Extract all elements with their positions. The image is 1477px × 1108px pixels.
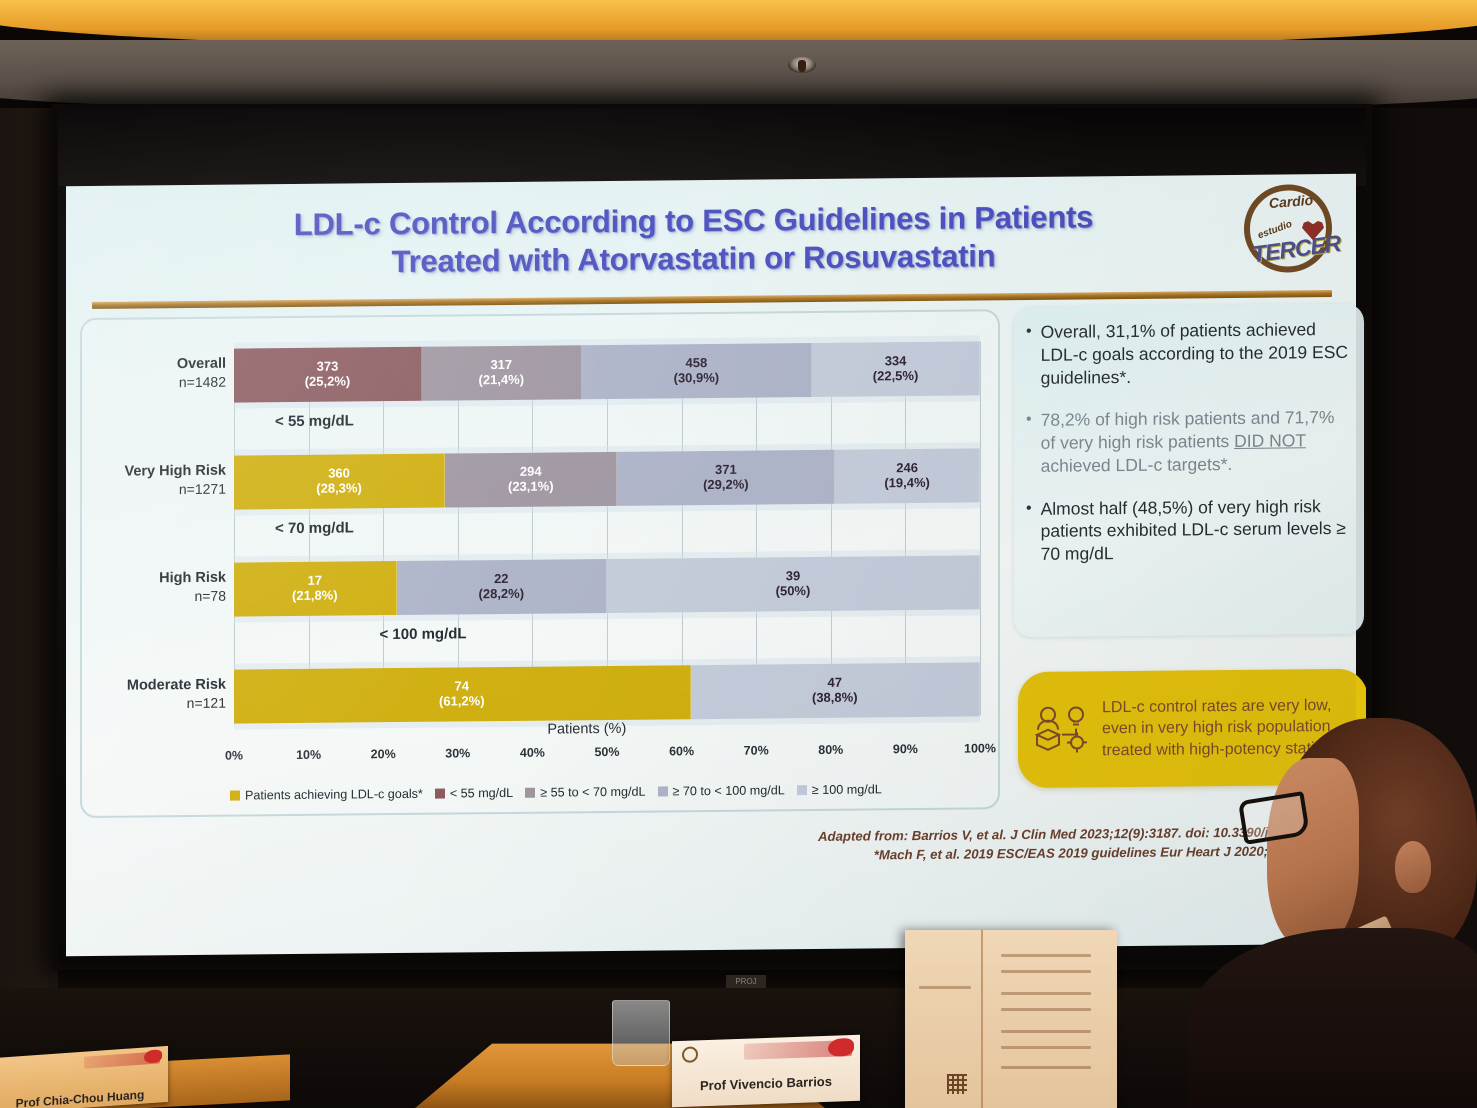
chart-bar-row[interactable]: 373(25,2%)317(21,4%)458(30,9%)334(22,5%) bbox=[234, 341, 980, 403]
segment-percent-label: (21,8%) bbox=[292, 589, 338, 604]
chart-bar-segment[interactable]: 22(28,2%) bbox=[397, 559, 607, 616]
chart-panel: 373(25,2%)317(21,4%)458(30,9%)334(22,5%)… bbox=[80, 309, 1000, 818]
chart-category-n: n=1482 bbox=[76, 374, 226, 393]
cardio-tercer-logo: Cardio estudio TERCER bbox=[1240, 180, 1336, 277]
segment-count-label: 17 bbox=[308, 574, 322, 589]
photo-of-conference-slide: LDL-c Control According to ESC Guideline… bbox=[0, 0, 1477, 1108]
segment-count-label: 360 bbox=[328, 467, 350, 482]
segment-percent-label: (61,2%) bbox=[439, 694, 485, 709]
segment-count-label: 246 bbox=[896, 461, 918, 476]
chart-bar-row[interactable]: 360(28,3%)294(23,1%)371(29,2%)246(19,4%) bbox=[234, 448, 980, 510]
chart-goal-threshold-label: < 100 mg/dL bbox=[379, 625, 466, 643]
chart-x-tick-label: 20% bbox=[371, 747, 396, 761]
chart-x-tick-label: 90% bbox=[893, 742, 918, 756]
segment-percent-label: (30,9%) bbox=[674, 371, 720, 386]
legend-label: Patients achieving LDL-c goals* bbox=[245, 787, 423, 803]
chart-bar-segment[interactable]: 294(23,1%) bbox=[445, 452, 617, 508]
bullet-emphasis: DID NOT bbox=[1234, 430, 1306, 451]
chart-x-tick-label: 80% bbox=[818, 743, 843, 757]
chart-category-label: High Risk bbox=[76, 570, 226, 589]
chart-bar-segment[interactable]: 458(30,9%) bbox=[582, 343, 813, 400]
projector-label: PROJ bbox=[726, 975, 766, 988]
namecard-left: Prof Chia-Chou Huang bbox=[0, 1046, 168, 1108]
chart-category-label: Overall bbox=[76, 356, 226, 375]
finding-bullet: •Overall, 31,1% of patients achieved LDL… bbox=[1026, 318, 1352, 389]
chart-bar-segment[interactable]: 47(38,8%) bbox=[691, 662, 980, 719]
bullet-text: Overall, 31,1% of patients achieved LDL-… bbox=[1041, 318, 1352, 389]
chart-category-group: Moderate Riskn=121 bbox=[76, 676, 226, 712]
bullet-dot-icon: • bbox=[1026, 497, 1032, 565]
page-title: LDL-c Control According to ESC Guideline… bbox=[136, 197, 1251, 283]
person-idea-gear-icon bbox=[1032, 698, 1094, 761]
bullet-text: 78,2% of high risk patients and 71,7% of… bbox=[1041, 406, 1352, 477]
chart-goal-threshold-label: < 70 mg/dL bbox=[275, 519, 354, 537]
chart-bar-segment[interactable]: 373(25,2%) bbox=[234, 347, 422, 403]
legend-label: < 55 mg/dL bbox=[450, 786, 513, 801]
audience-member-silhouette bbox=[1207, 608, 1477, 1108]
chart-x-tick-label: 50% bbox=[594, 745, 619, 759]
legend-swatch bbox=[525, 788, 535, 798]
chart-category-group: Overalln=1482 bbox=[76, 356, 226, 392]
chart-plot-area: 373(25,2%)317(21,4%)458(30,9%)334(22,5%)… bbox=[234, 341, 980, 722]
chart-x-tick-label: 60% bbox=[669, 744, 694, 758]
segment-percent-label: (23,1%) bbox=[508, 480, 554, 495]
chart-bar-row[interactable]: 74(61,2%)47(38,8%) bbox=[234, 662, 980, 724]
left-wall bbox=[0, 108, 58, 1108]
legend-label: ≥ 55 to < 70 mg/dL bbox=[540, 785, 645, 800]
legend-swatch bbox=[658, 786, 668, 796]
bullet-dot-icon: • bbox=[1026, 409, 1032, 477]
segment-percent-label: (29,2%) bbox=[703, 478, 749, 493]
chart-x-tick-label: 10% bbox=[296, 748, 321, 762]
segment-count-label: 47 bbox=[828, 676, 842, 691]
chart-bar-segment[interactable]: 360(28,3%) bbox=[234, 453, 445, 510]
legend-label: ≥ 70 to < 100 mg/dL bbox=[673, 783, 785, 798]
namecard-center-name: Prof Vivencio Barrios bbox=[672, 1073, 860, 1095]
segment-percent-label: (38,8%) bbox=[812, 690, 858, 705]
chart-bar-segment[interactable]: 74(61,2%) bbox=[234, 665, 691, 724]
segment-count-label: 317 bbox=[490, 358, 512, 373]
segment-percent-label: (28,3%) bbox=[316, 481, 362, 496]
segment-count-label: 371 bbox=[715, 463, 737, 478]
finding-bullet: •Almost half (48,5%) of very high risk p… bbox=[1026, 494, 1352, 565]
segment-percent-label: (50%) bbox=[776, 584, 811, 599]
segment-percent-label: (25,2%) bbox=[305, 375, 351, 390]
segment-count-label: 294 bbox=[520, 465, 542, 480]
chart-x-tick-label: 70% bbox=[744, 743, 769, 757]
chart-gridline bbox=[980, 341, 981, 715]
chart-goal-threshold-label: < 55 mg/dL bbox=[275, 413, 354, 431]
screen-letterbox-top bbox=[58, 108, 1366, 186]
ceiling-spotlight-icon bbox=[788, 57, 816, 73]
menu-booklet bbox=[905, 930, 1117, 1108]
bullet-dot-icon: • bbox=[1026, 321, 1032, 389]
chart-bar-segment[interactable]: 371(29,2%) bbox=[617, 450, 835, 507]
segment-count-label: 22 bbox=[494, 572, 508, 587]
chart-x-tick-label: 40% bbox=[520, 746, 545, 760]
segment-count-label: 74 bbox=[455, 679, 469, 694]
chart-category-n: n=121 bbox=[76, 694, 226, 713]
ceiling-slab bbox=[0, 40, 1477, 114]
namecard-center: Prof Vivencio Barrios bbox=[672, 1035, 860, 1108]
chart-category-n: n=78 bbox=[76, 587, 226, 606]
chart-x-tick-label: 30% bbox=[445, 746, 470, 760]
projection-screen: LDL-c Control According to ESC Guideline… bbox=[58, 108, 1366, 966]
chart-bar-segment[interactable]: 334(22,5%) bbox=[812, 341, 980, 397]
chart-bar-row[interactable]: 17(21,8%)22(28,2%)39(50%) bbox=[234, 555, 980, 617]
chart-x-tick-label: 0% bbox=[225, 748, 243, 762]
legend-swatch bbox=[230, 791, 240, 801]
chart-legend: Patients achieving LDL-c goals*< 55 mg/d… bbox=[230, 781, 994, 802]
chart-bar-segment[interactable]: 39(50%) bbox=[607, 555, 980, 613]
chart-category-n: n=1271 bbox=[76, 480, 226, 499]
finding-bullet: •78,2% of high risk patients and 71,7% o… bbox=[1026, 406, 1352, 477]
segment-count-label: 39 bbox=[786, 569, 800, 584]
bullet-text: Almost half (48,5%) of very high risk pa… bbox=[1041, 494, 1352, 565]
segment-count-label: 334 bbox=[885, 354, 907, 369]
segment-percent-label: (28,2%) bbox=[479, 587, 525, 602]
segment-percent-label: (19,4%) bbox=[884, 476, 930, 491]
key-findings-card: •Overall, 31,1% of patients achieved LDL… bbox=[1014, 304, 1364, 637]
chart-category-group: High Riskn=78 bbox=[76, 570, 226, 606]
legend-swatch bbox=[435, 789, 445, 799]
chart-x-axis-title: Patients (%) bbox=[547, 721, 626, 738]
chart-category-label: Very High Risk bbox=[76, 463, 226, 482]
drinking-glass bbox=[612, 1000, 670, 1066]
chart-bar-segment[interactable]: 317(21,4%) bbox=[422, 345, 582, 401]
chart-bar-segment[interactable]: 246(19,4%) bbox=[835, 448, 980, 504]
segment-count-label: 373 bbox=[317, 360, 339, 375]
legend-label: ≥ 100 mg/dL bbox=[812, 782, 882, 797]
chart-category-label: Moderate Risk bbox=[76, 676, 226, 695]
segment-count-label: 458 bbox=[686, 356, 708, 371]
segment-percent-label: (22,5%) bbox=[873, 369, 919, 384]
chart-category-group: Very High Riskn=1271 bbox=[76, 463, 226, 499]
chart-x-tick-label: 100% bbox=[964, 741, 996, 755]
legend-swatch bbox=[797, 785, 807, 795]
presentation-slide: LDL-c Control According to ESC Guideline… bbox=[66, 174, 1356, 956]
segment-percent-label: (21,4%) bbox=[479, 373, 525, 388]
chart-bar-segment[interactable]: 17(21,8%) bbox=[234, 561, 397, 617]
